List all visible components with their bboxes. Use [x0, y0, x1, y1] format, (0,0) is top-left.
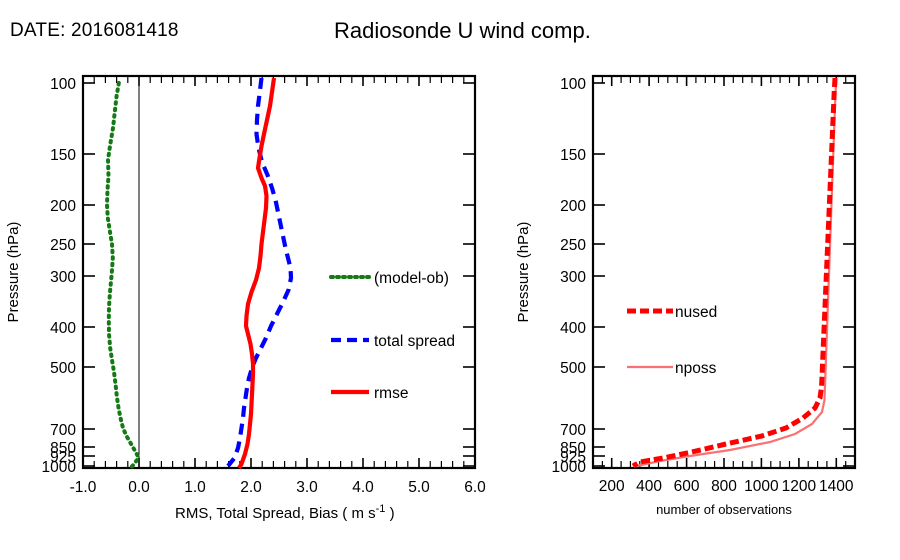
- legend-label-rmse: rmse: [374, 385, 408, 402]
- right-y-axis-title: Pressure (hPa): [515, 222, 532, 323]
- plots-canvas: 100 150 200 250 300 400 500 700 850 925 …: [0, 0, 900, 560]
- right-xtick-label: 200: [599, 478, 625, 495]
- left-x-axis-title-tail: ): [385, 505, 394, 522]
- left-ytick-label: 700: [50, 422, 76, 439]
- left-xtick-label: -1.0: [70, 479, 97, 496]
- right-ytick-label: 100: [560, 76, 586, 93]
- legend-label-nposs: nposs: [675, 360, 717, 377]
- right-xtick-label: 800: [711, 478, 737, 495]
- figure-root: DATE: 2016081418 Radiosonde U wind comp.: [0, 0, 900, 560]
- left-ytick-label: 250: [50, 237, 76, 254]
- series-nused: [633, 78, 835, 466]
- right-ytick-label: 500: [560, 360, 586, 377]
- right-xtick-label: 1200: [782, 478, 817, 495]
- left-ytick-label: 400: [50, 320, 76, 337]
- right-ytick-label: 200: [560, 198, 586, 215]
- left-x-tick-labels: -1.0 0.0 1.0 2.0 3.0 4.0 5.0 6.0: [70, 479, 487, 496]
- left-x-axis-title-sup: -1: [376, 503, 386, 515]
- left-y-tick-labels: 100 150 200 250 300 400 500 700 850 925 …: [42, 76, 77, 476]
- right-ytick-label: 150: [560, 147, 586, 164]
- right-x-tick-labels: 200 400 600 800 1000 1200 1400: [599, 478, 854, 495]
- left-ytick-label: 150: [50, 147, 76, 164]
- right-xtick-label: 600: [674, 478, 700, 495]
- right-xtick-label: 400: [636, 478, 662, 495]
- series-nposs: [637, 78, 837, 466]
- legend-label-nused: nused: [675, 304, 717, 321]
- right-ytick-label: 250: [560, 237, 586, 254]
- legend-label-model-ob: (model-ob): [374, 270, 449, 287]
- left-xtick-label: 1.0: [184, 479, 206, 496]
- series-model-ob: [107, 83, 138, 467]
- right-ytick-label: 700: [560, 422, 586, 439]
- left-xtick-label: 4.0: [352, 479, 374, 496]
- left-ytick-label: 100: [50, 76, 76, 93]
- left-xtick-label: 5.0: [408, 479, 430, 496]
- legend-label-total-spread: total spread: [374, 333, 455, 350]
- left-ytick-label: 1000: [42, 459, 77, 476]
- right-x-major-ticks: [612, 76, 837, 468]
- left-xtick-label: 3.0: [296, 479, 318, 496]
- left-ytick-label: 300: [50, 269, 76, 286]
- left-y-axis-title: Pressure (hPa): [5, 222, 22, 323]
- left-panel: 100 150 200 250 300 400 500 700 850 925 …: [5, 76, 486, 522]
- right-xtick-label: 1400: [819, 478, 854, 495]
- right-ytick-label: 1000: [552, 459, 587, 476]
- right-panel: 100 150 200 250 300 400 500 700 850 925 …: [515, 76, 855, 517]
- right-ytick-label: 400: [560, 320, 586, 337]
- right-x-axis-title: number of observations: [656, 502, 792, 517]
- left-x-axis-title: RMS, Total Spread, Bias ( m s-1 ): [175, 503, 395, 522]
- left-ytick-label: 500: [50, 360, 76, 377]
- left-x-axis-title-main: RMS, Total Spread, Bias ( m s: [175, 505, 376, 522]
- right-y-tick-labels: 100 150 200 250 300 400 500 700 850 925 …: [552, 76, 587, 476]
- right-ytick-label: 300: [560, 269, 586, 286]
- right-x-minor-ticks: [602, 76, 845, 468]
- left-xtick-label: 2.0: [240, 479, 262, 496]
- left-xtick-label: 6.0: [464, 479, 486, 496]
- left-legend: (model-ob) total spread rmse: [331, 270, 455, 402]
- left-ytick-label: 200: [50, 198, 76, 215]
- right-xtick-label: 1000: [744, 478, 779, 495]
- right-legend: nused nposs: [627, 304, 717, 377]
- left-xtick-label: 0.0: [128, 479, 150, 496]
